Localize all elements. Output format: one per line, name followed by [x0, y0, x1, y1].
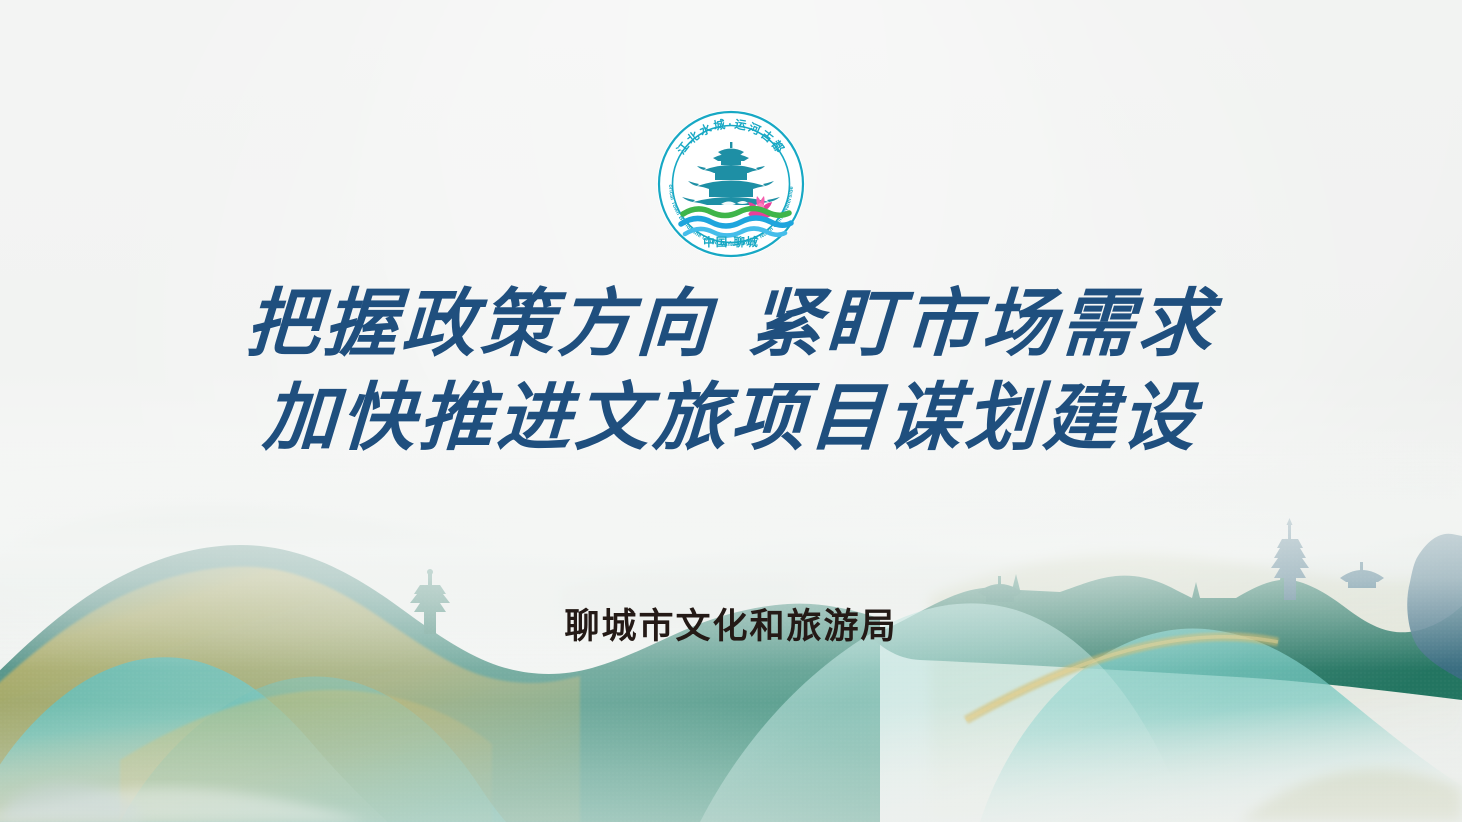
organization-name: 聊城市文化和旅游局 [0, 598, 1462, 649]
title-line-1-part-1: 把握政策方向 [244, 284, 716, 366]
title-line-1-part-2: 紧盯市场需求 [746, 284, 1218, 366]
presentation-slide: 江北水城·运河古都 Historical Town Beside the Gra… [0, 0, 1462, 822]
emblem-center-text: 中国·聊城 [703, 235, 759, 249]
slide-title: 把握政策方向紧盯市场需求 加快推进文旅项目谋划建设 [0, 278, 1462, 466]
title-line-1: 把握政策方向紧盯市场需求 [0, 278, 1462, 372]
city-emblem-logo: 江北水城·运河古都 Historical Town Beside the Gra… [655, 108, 807, 260]
title-line-2: 加快推进文旅项目谋划建设 [0, 372, 1462, 466]
